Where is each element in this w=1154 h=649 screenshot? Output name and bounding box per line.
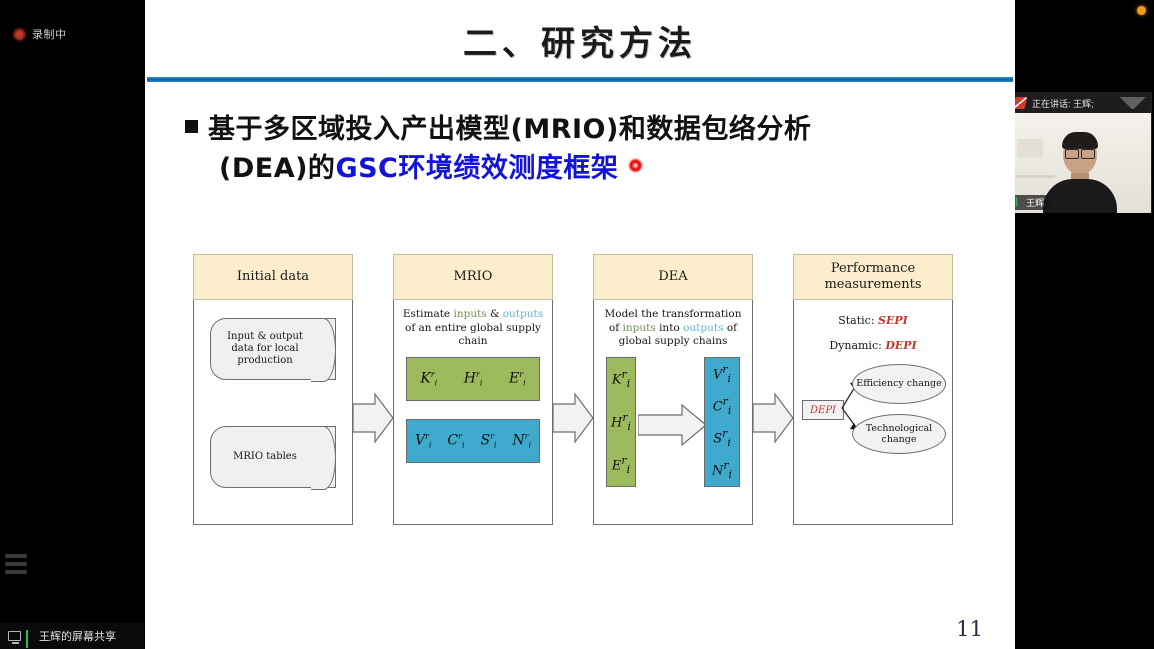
database-cylinder-2: MRIO tables	[210, 426, 336, 488]
dynamic-label: Dynamic:	[829, 339, 882, 352]
column-initial-data: Initial data Input & output data for loc…	[193, 254, 353, 525]
desc-inputs: inputs	[623, 322, 656, 334]
depi-decomposition: DEPI Efficiency change Technological cha…	[800, 362, 946, 454]
column-performance-measurements: Performance measurements Static: SEPI Dy…	[793, 254, 953, 525]
variable-V: Vri	[415, 432, 432, 450]
desc-mid: &	[487, 308, 503, 320]
database-cylinder-1: Input & output data for local production	[210, 318, 336, 380]
person-hair	[1062, 132, 1098, 149]
depi-node: DEPI	[802, 400, 844, 420]
flow-arrow-1	[353, 390, 395, 446]
variable-S: Sri	[480, 432, 496, 450]
screen-share-label: 王辉的屏幕共享	[39, 628, 116, 644]
variable-H: Hri	[464, 370, 483, 388]
list-line	[5, 570, 27, 574]
recording-label: 录制中	[32, 26, 67, 42]
column-header: Initial data	[193, 254, 353, 300]
column-dea: DEA Model the transformation of inputs i…	[593, 254, 753, 525]
participants-list-icon[interactable]	[5, 554, 27, 574]
video-feed: 王辉	[1009, 113, 1151, 213]
variable-K: Kri	[612, 368, 630, 390]
slide-bullet-block: 基于多区域投入产出模型(MRIO)和数据包络分析 (DEA)的GSC环境绩效测度…	[185, 110, 1015, 188]
list-line	[5, 562, 27, 566]
desc-post: of an entire global supply chain	[405, 322, 541, 348]
column-body: Model the transformation of inputs into …	[593, 300, 753, 525]
mrio-blue-variables: Vri Cri Sri Nri	[406, 419, 540, 463]
video-wall-poster	[1017, 139, 1043, 157]
bullet-square-icon	[185, 120, 198, 133]
laser-pointer-icon	[628, 158, 643, 173]
flow-arrow-2	[553, 390, 595, 446]
video-wall-shelf	[1015, 175, 1055, 178]
bullet-text-1: 基于多区域投入产出模型(MRIO)和数据包络分析	[208, 114, 811, 145]
bullet-line-2: (DEA)的GSC环境绩效测度框架	[219, 149, 1015, 188]
bullet-text-2-highlight: GSC环境绩效测度框架	[335, 153, 618, 184]
flow-arrow-3	[753, 390, 795, 446]
cylinder-label: MRIO tables	[217, 451, 313, 463]
column-mrio: MRIO Estimate inputs & outputs of an ent…	[393, 254, 553, 525]
column-body: Static: SEPI Dynamic: DEPI DEPI	[793, 300, 953, 525]
technological-change-node: Technological change	[852, 414, 946, 454]
desc-pre: Estimate	[403, 308, 454, 320]
variable-K: Kri	[420, 370, 437, 388]
microphone-icon	[26, 630, 34, 643]
variable-N: Nri	[512, 432, 531, 450]
column-header: Performance measurements	[793, 254, 953, 300]
efficiency-change-node: Efficiency change	[852, 364, 946, 404]
person-glasses	[1065, 148, 1095, 157]
dea-input-variables: Kri Hri Eri	[606, 357, 636, 487]
variable-V: Vri	[713, 363, 731, 385]
variable-E: Eri	[509, 370, 526, 388]
desc-outputs: outputs	[683, 322, 723, 334]
status-dot-icon	[1137, 6, 1146, 15]
static-measure: Static: SEPI	[800, 314, 946, 327]
meeting-screen: 录制中 王辉的屏幕共享 正在讲话: 王辉;	[0, 0, 1154, 649]
variable-E: Eri	[612, 454, 630, 476]
desc-mid: into	[656, 322, 683, 334]
slide-title: 二、研究方法	[145, 16, 1015, 65]
column-description: Model the transformation of inputs into …	[600, 308, 746, 349]
column-header: MRIO	[393, 254, 553, 300]
dea-output-variables: Vri Cri Sri Nri	[704, 357, 740, 487]
static-value: SEPI	[878, 314, 908, 327]
screen-icon	[8, 631, 21, 641]
column-header: DEA	[593, 254, 753, 300]
title-divider	[147, 77, 1013, 82]
recording-indicator: 录制中	[14, 26, 67, 42]
framework-diagram: Initial data Input & output data for loc…	[193, 254, 973, 529]
bullet-line-1: 基于多区域投入产出模型(MRIO)和数据包络分析	[185, 110, 1015, 149]
dynamic-value: DEPI	[885, 339, 916, 352]
participant-name-chip: 王辉	[1012, 195, 1049, 210]
variable-S: Sri	[713, 427, 731, 449]
screen-share-status: 王辉的屏幕共享	[0, 623, 144, 649]
desc-inputs: inputs	[453, 308, 486, 320]
variable-C: Cri	[447, 432, 464, 450]
variable-N: Nri	[712, 459, 732, 481]
video-tile-header: 正在讲话: 王辉;	[1009, 93, 1151, 113]
column-body: Estimate inputs & outputs of an entire g…	[393, 300, 553, 525]
static-label: Static:	[838, 314, 874, 327]
column-description: Estimate inputs & outputs of an entire g…	[400, 308, 546, 349]
record-dot-icon	[14, 29, 25, 40]
dynamic-measure: Dynamic: DEPI	[800, 339, 946, 352]
bullet-text-2a: (DEA)的	[219, 153, 335, 184]
desc-outputs: outputs	[503, 308, 543, 320]
microphone-icon	[1016, 197, 1023, 208]
image-placeholder-icon	[1120, 97, 1146, 109]
variable-H: Hri	[611, 411, 631, 433]
variable-C: Cri	[713, 395, 732, 417]
dea-transformation: Kri Hri Eri Vri Cri Sri Nri	[600, 357, 746, 489]
cylinder-label: Input & output data for local production	[217, 331, 313, 367]
dea-inner-arrow	[638, 403, 708, 447]
mrio-green-variables: Kri Hri Eri	[406, 357, 540, 401]
speaker-video-tile[interactable]: 正在讲话: 王辉; 王辉	[1008, 92, 1152, 212]
column-body: Input & output data for local production…	[193, 300, 353, 525]
list-line	[5, 554, 27, 558]
speaking-label: 正在讲话: 王辉;	[1032, 97, 1094, 110]
participant-name: 王辉	[1026, 196, 1044, 209]
presentation-slide: 二、研究方法 基于多区域投入产出模型(MRIO)和数据包络分析 (DEA)的GS…	[145, 0, 1015, 649]
slide-page-number: 11	[956, 617, 983, 641]
